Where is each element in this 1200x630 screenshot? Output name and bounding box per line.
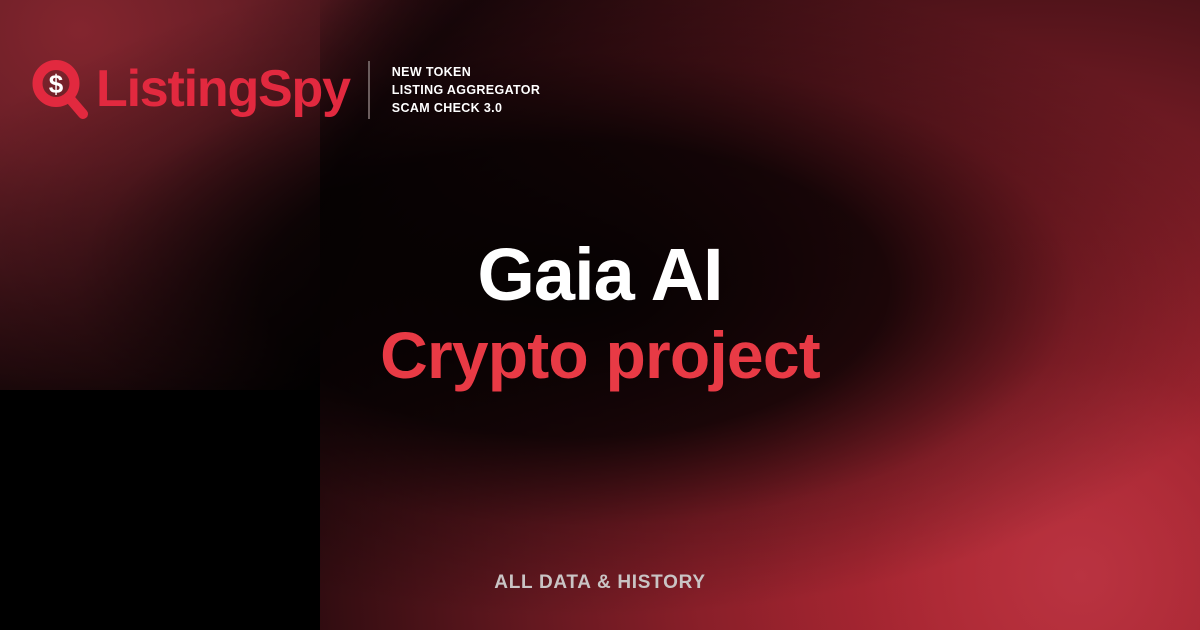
tagline-line-2: LISTING AGGREGATOR — [392, 81, 540, 99]
brand-header[interactable]: $ ListingSpy NEW TOKEN LISTING AGGREGATO… — [32, 54, 540, 126]
footer-note: ALL DATA & HISTORY — [0, 572, 1200, 594]
svg-text:$: $ — [49, 69, 64, 99]
brand-tagline: NEW TOKEN LISTING AGGREGATOR SCAM CHECK … — [392, 63, 540, 117]
tagline-line-1: NEW TOKEN — [392, 63, 540, 81]
page-subtitle: Crypto project — [0, 320, 1200, 391]
page-title: Gaia AI — [0, 236, 1200, 314]
brand-divider — [368, 61, 370, 119]
magnifier-dollar-icon: $ — [32, 59, 90, 121]
hero-block: Gaia AI Crypto project — [0, 236, 1200, 392]
tagline-line-3: SCAM CHECK 3.0 — [392, 99, 540, 117]
brand-wordmark: ListingSpy — [96, 63, 350, 115]
social-preview-card: $ ListingSpy NEW TOKEN LISTING AGGREGATO… — [0, 0, 1200, 630]
